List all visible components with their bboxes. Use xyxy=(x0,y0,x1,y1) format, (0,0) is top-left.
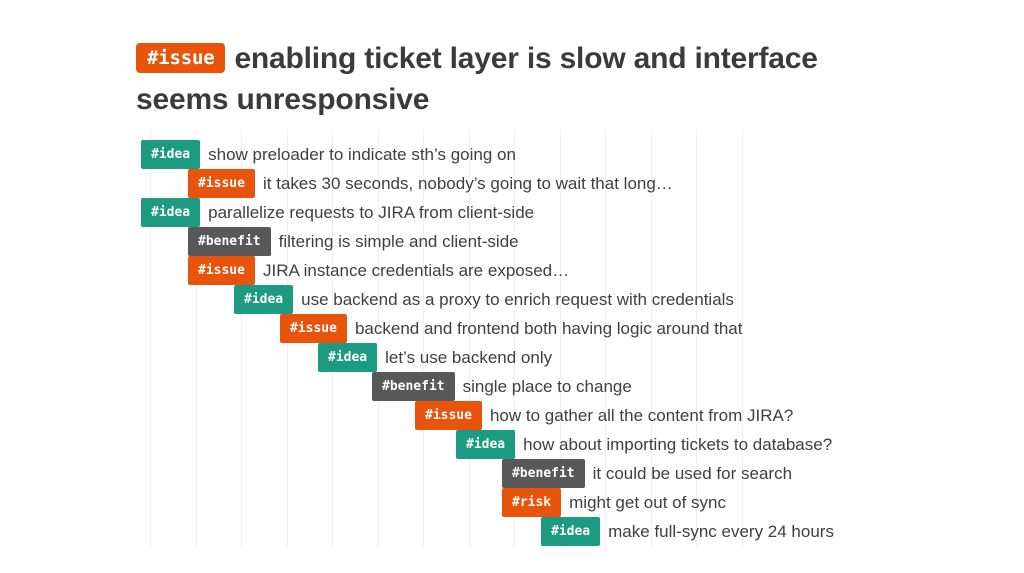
cascade-row: #idealet’s use backend only xyxy=(318,343,552,372)
row-text: how about importing tickets to database? xyxy=(523,430,832,459)
title-line-1: #issueenabling ticket layer is slow and … xyxy=(136,38,926,79)
row-text: show preloader to indicate sth’s going o… xyxy=(208,140,516,169)
cascade-row: #issuebackend and frontend both having l… xyxy=(280,314,742,343)
row-text: let’s use backend only xyxy=(385,343,552,372)
row-text: use backend as a proxy to enrich request… xyxy=(301,285,734,314)
slide-title: #issueenabling ticket layer is slow and … xyxy=(136,38,926,120)
cascade-row: #ideaparallelize requests to JIRA from c… xyxy=(141,198,534,227)
row-tag-issue[interactable]: #issue xyxy=(188,256,255,285)
cascade-row: #ideamake full-sync every 24 hours xyxy=(541,517,834,546)
cascade-row: #issueJIRA instance credentials are expo… xyxy=(188,256,569,285)
row-tag-idea[interactable]: #idea xyxy=(456,430,515,459)
cascade-row: #issueit takes 30 seconds, nobody’s goin… xyxy=(188,169,673,198)
cascade-row: #ideause backend as a proxy to enrich re… xyxy=(234,285,734,314)
row-tag-idea[interactable]: #idea xyxy=(141,140,200,169)
row-tag-idea[interactable]: #idea xyxy=(141,198,200,227)
row-text: it takes 30 seconds, nobody’s going to w… xyxy=(263,169,673,198)
cascade-row: #issuehow to gather all the content from… xyxy=(415,401,793,430)
row-tag-idea[interactable]: #idea xyxy=(318,343,377,372)
title-line-1-text: enabling ticket layer is slow and interf… xyxy=(234,42,817,75)
row-text: how to gather all the content from JIRA? xyxy=(490,401,793,430)
row-text: JIRA instance credentials are exposed… xyxy=(263,256,569,285)
guide-line xyxy=(150,130,151,548)
row-tag-benefit[interactable]: #benefit xyxy=(502,459,585,488)
row-tag-idea[interactable]: #idea xyxy=(234,285,293,314)
cascade-row: #ideahow about importing tickets to data… xyxy=(456,430,832,459)
row-tag-risk[interactable]: #risk xyxy=(502,488,561,517)
row-tag-idea[interactable]: #idea xyxy=(541,517,600,546)
row-text: parallelize requests to JIRA from client… xyxy=(208,198,534,227)
row-text: might get out of sync xyxy=(569,488,726,517)
row-text: it could be used for search xyxy=(593,459,792,488)
row-tag-issue[interactable]: #issue xyxy=(415,401,482,430)
row-tag-benefit[interactable]: #benefit xyxy=(188,227,271,256)
cascade-row: #benefitfiltering is simple and client-s… xyxy=(188,227,519,256)
row-tag-benefit[interactable]: #benefit xyxy=(372,372,455,401)
cascade-row: #benefitsingle place to change xyxy=(372,372,632,401)
row-tag-issue[interactable]: #issue xyxy=(280,314,347,343)
row-text: single place to change xyxy=(463,372,632,401)
cascade-row: #riskmight get out of sync xyxy=(502,488,726,517)
title-tag-issue[interactable]: #issue xyxy=(136,43,225,73)
cascade-row: #benefitit could be used for search xyxy=(502,459,792,488)
title-line-2-text: seems unresponsive xyxy=(136,79,926,120)
row-text: filtering is simple and client-side xyxy=(279,227,519,256)
row-text: make full-sync every 24 hours xyxy=(608,517,834,546)
row-text: backend and frontend both having logic a… xyxy=(355,314,743,343)
cascade-row: #ideashow preloader to indicate sth’s go… xyxy=(141,140,516,169)
row-tag-issue[interactable]: #issue xyxy=(188,169,255,198)
slide-canvas: #issueenabling ticket layer is slow and … xyxy=(0,0,1024,573)
